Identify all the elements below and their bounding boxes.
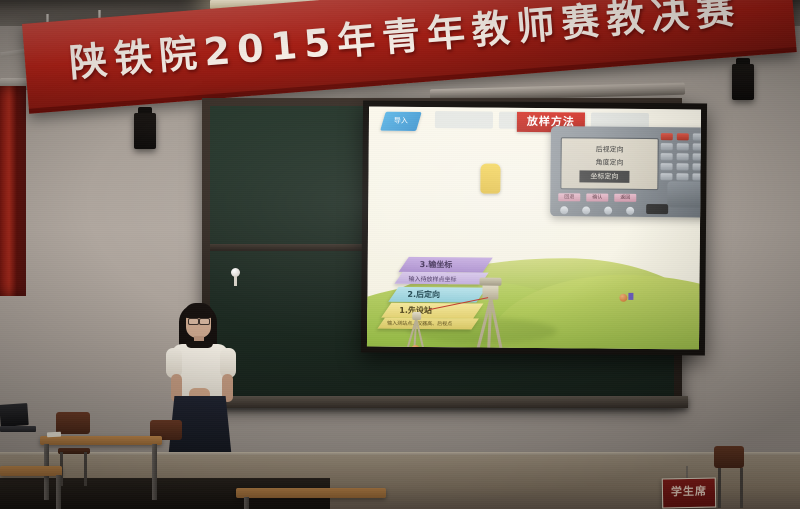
photo-vignette <box>0 0 800 509</box>
classroom-photo: 陕铁院2015年青年教师赛教决赛 导入 放样方法 <box>0 0 800 509</box>
